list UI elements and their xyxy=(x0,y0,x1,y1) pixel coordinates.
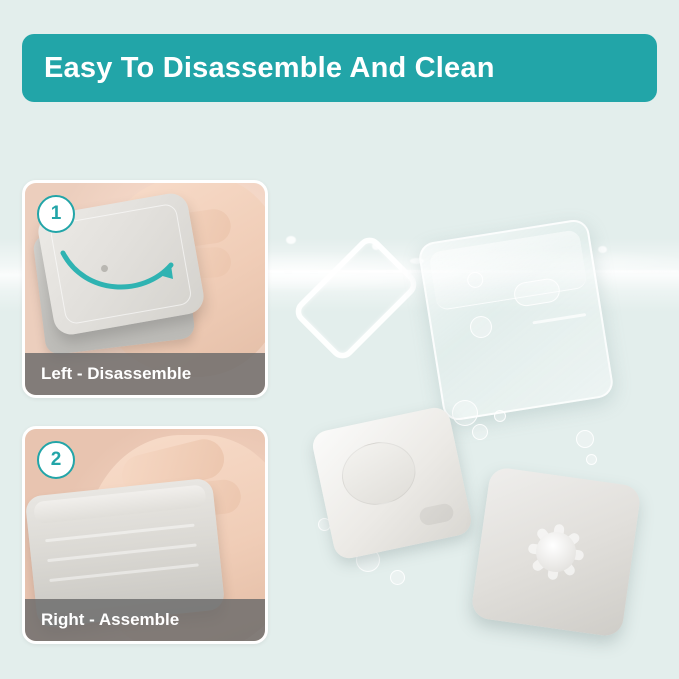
step-card-1: 1 Left - Disassemble xyxy=(22,180,268,398)
container-body-shell xyxy=(417,218,615,423)
step-1-caption-bar: Left - Disassemble xyxy=(25,353,265,395)
page-title: Easy To Disassemble And Clean xyxy=(44,52,495,85)
product-infographic: Easy To Disassemble And Clean xyxy=(0,0,679,679)
step-2-caption-text: Right - Assemble xyxy=(41,610,179,630)
seal-ring-outline xyxy=(290,232,421,363)
container-rib xyxy=(47,543,196,562)
bubble xyxy=(470,316,492,338)
bubble xyxy=(576,430,594,448)
step-card-2: 2 Right - Assemble xyxy=(22,426,268,644)
step-2-caption-bar: Right - Assemble xyxy=(25,599,265,641)
pump-lid-tab xyxy=(418,502,455,527)
bubble xyxy=(452,400,478,426)
curved-arrow-icon xyxy=(55,231,185,311)
step-number-badge: 1 xyxy=(37,195,75,233)
gray-base-plate xyxy=(470,466,642,638)
silicone-seal-ring xyxy=(310,228,402,368)
bubble xyxy=(586,454,597,465)
step-number-badge: 2 xyxy=(37,441,75,479)
product-photo: 1 Left - Disassemble 2 Right xyxy=(0,118,679,679)
bubble xyxy=(472,424,488,440)
container-label-line xyxy=(532,313,586,324)
container-rib xyxy=(45,524,194,543)
bubble xyxy=(390,570,405,585)
container-lid-face xyxy=(428,229,587,311)
pump-lid-plate xyxy=(310,405,474,561)
container-rib xyxy=(49,563,198,582)
splash-droplet xyxy=(598,246,607,253)
pump-lid-circle xyxy=(336,436,421,512)
title-banner: Easy To Disassemble And Clean xyxy=(22,34,657,102)
clear-container-body xyxy=(417,218,615,423)
bubble xyxy=(494,410,506,422)
base-plate-body xyxy=(470,466,642,638)
white-pump-lid xyxy=(310,405,474,561)
splash-droplet xyxy=(286,236,296,244)
step-1-caption-text: Left - Disassemble xyxy=(41,364,191,384)
